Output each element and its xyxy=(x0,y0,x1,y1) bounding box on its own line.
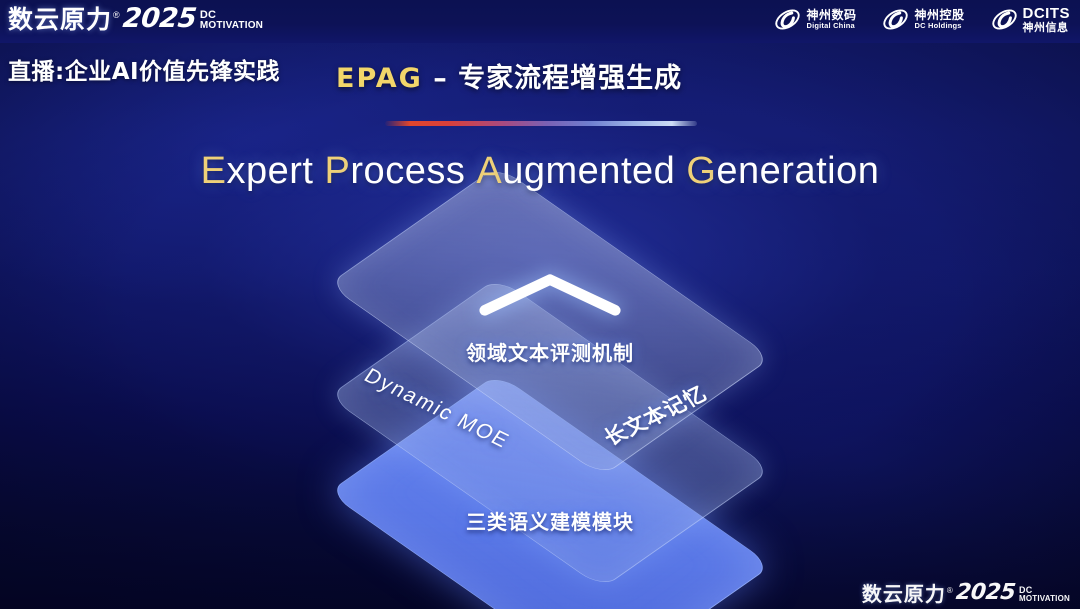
partner-logo-digital-china: 神州数码 Digital China xyxy=(774,6,856,33)
watermark-dc-motivation: DC MOTIVATION xyxy=(1019,586,1070,603)
partner-label: DCITS 神州信息 xyxy=(1023,6,1071,33)
headline-rest-generation: eneration xyxy=(716,150,879,192)
headline-rest-process: rocess xyxy=(350,150,465,192)
brand-registered-mark: ® xyxy=(113,11,120,20)
partner-label: 神州控股 DC Holdings xyxy=(914,9,964,29)
brand-year: 2025 xyxy=(121,5,197,32)
live-subtitle: 直播:企业AI价值先锋实践 xyxy=(8,52,280,86)
watermark-registered-mark: ® xyxy=(947,587,953,595)
headline-cap-p: P xyxy=(325,150,351,192)
headline-cap-a: A xyxy=(476,150,502,192)
watermark-motivation-text: MOTIVATION xyxy=(1019,595,1070,603)
partner-logo-group: 神州数码 Digital China 神州控股 DC Holdings DCIT… xyxy=(774,6,1070,33)
slide-root: 数云原力 ® 2025 DC MOTIVATION 神州数码 Digital C… xyxy=(0,0,1080,609)
partner-label: 神州数码 Digital China xyxy=(806,9,856,29)
page-title-chinese: 专家流程增强生成 xyxy=(458,63,682,94)
partner-name-en: DC Holdings xyxy=(914,22,964,30)
brand-logo: 数云原力 ® 2025 DC MOTIVATION xyxy=(8,5,263,32)
headline-cap-e: E xyxy=(201,150,227,192)
brand-name-cn: 数云原力 xyxy=(8,7,112,32)
headline-cap-g: G xyxy=(686,150,716,192)
watermark-logo: 数云原力 ® 2025 DC MOTIVATION xyxy=(862,582,1070,604)
page-title-separator: – xyxy=(423,63,458,94)
partner-name-en: Digital China xyxy=(806,22,856,30)
headline-rest-expert: xpert xyxy=(227,150,314,192)
partner-name-cn: 神州信息 xyxy=(1023,22,1071,34)
page-title: EPAG – 专家流程增强生成 xyxy=(336,56,682,95)
partner-name-en: DCITS xyxy=(1023,6,1071,22)
gradient-divider xyxy=(385,121,697,126)
swoosh-logo-icon xyxy=(991,6,1018,33)
headline-rest-augmented: ugmented xyxy=(502,150,675,192)
english-headline: Expert Process Augmented Generation xyxy=(0,150,1080,193)
brand-dc-motivation: DC MOTIVATION xyxy=(200,10,263,31)
page-title-acronym: EPAG xyxy=(336,63,423,94)
watermark-name-cn: 数云原力 xyxy=(862,584,946,604)
partner-logo-dc-holdings: 神州控股 DC Holdings xyxy=(882,6,964,33)
swoosh-logo-icon xyxy=(774,6,801,33)
layer-stack-diagram: 领域文本评测机制 Dynamic MOE 长文本记忆 三类语义建模模块 xyxy=(300,222,800,572)
watermark-year: 2025 xyxy=(955,582,1017,604)
brand-motivation-text: MOTIVATION xyxy=(200,21,263,31)
partner-logo-dcits: DCITS 神州信息 xyxy=(991,6,1071,33)
swoosh-logo-icon xyxy=(882,6,909,33)
